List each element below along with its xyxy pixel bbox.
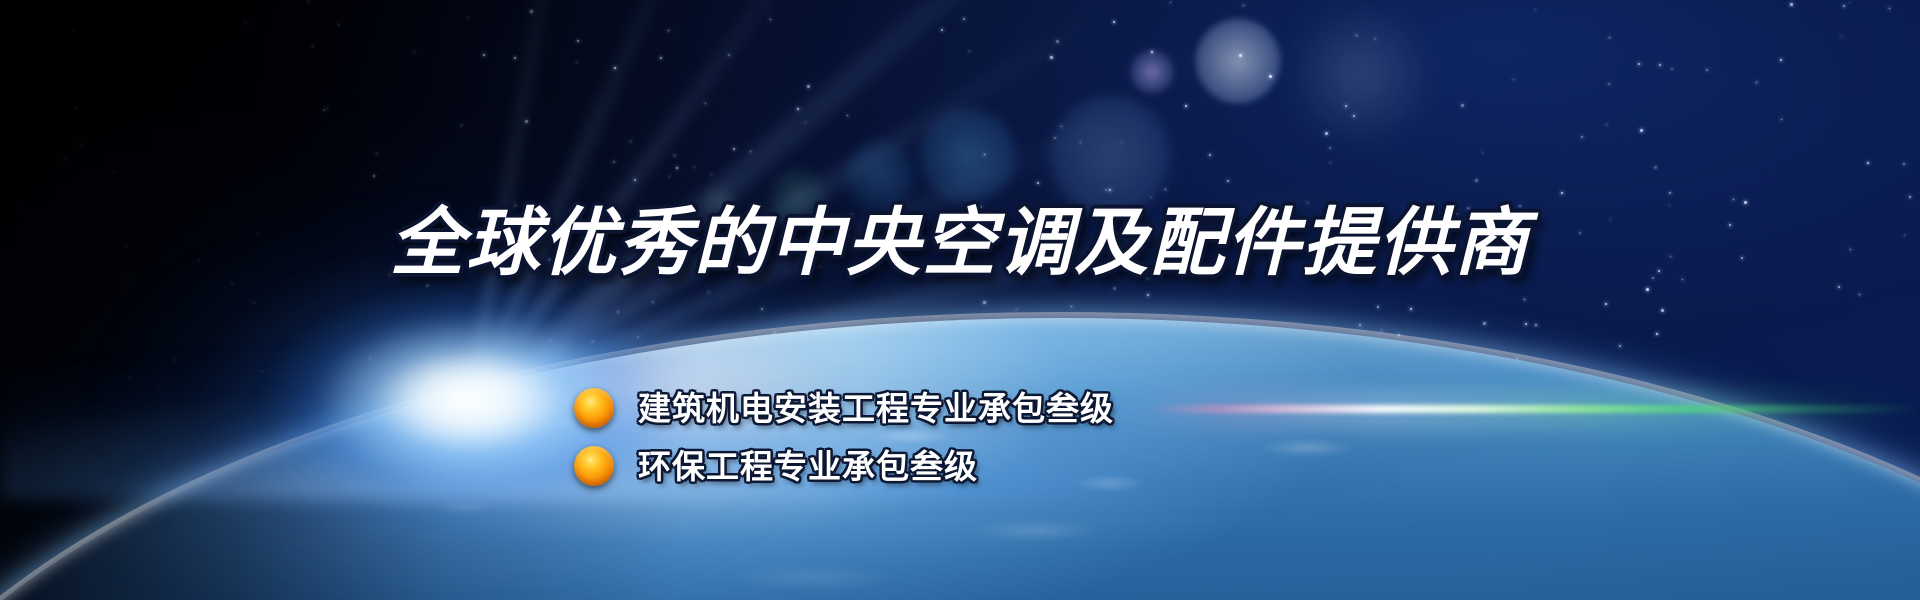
bullet-list: 建筑机电安装工程专业承包叁级 环保工程专业承包叁级 (574, 382, 1114, 498)
orange-sphere-bullet-icon (574, 446, 614, 486)
list-item-label: 环保工程专业承包叁级 (638, 450, 978, 483)
list-item-label: 建筑机电安装工程专业承包叁级 (638, 392, 1114, 425)
list-item: 环保工程专业承包叁级 (574, 440, 1114, 492)
list-item: 建筑机电安装工程专业承包叁级 (574, 382, 1114, 434)
banner-content: 全球优秀的中央空调及配件提供商 建筑机电安装工程专业承包叁级 环保工程专业承包叁… (0, 0, 1920, 600)
hero-banner: 全球优秀的中央空调及配件提供商 建筑机电安装工程专业承包叁级 环保工程专业承包叁… (0, 0, 1920, 600)
orange-sphere-bullet-icon (574, 388, 614, 428)
page-title: 全球优秀的中央空调及配件提供商 (0, 206, 1920, 280)
